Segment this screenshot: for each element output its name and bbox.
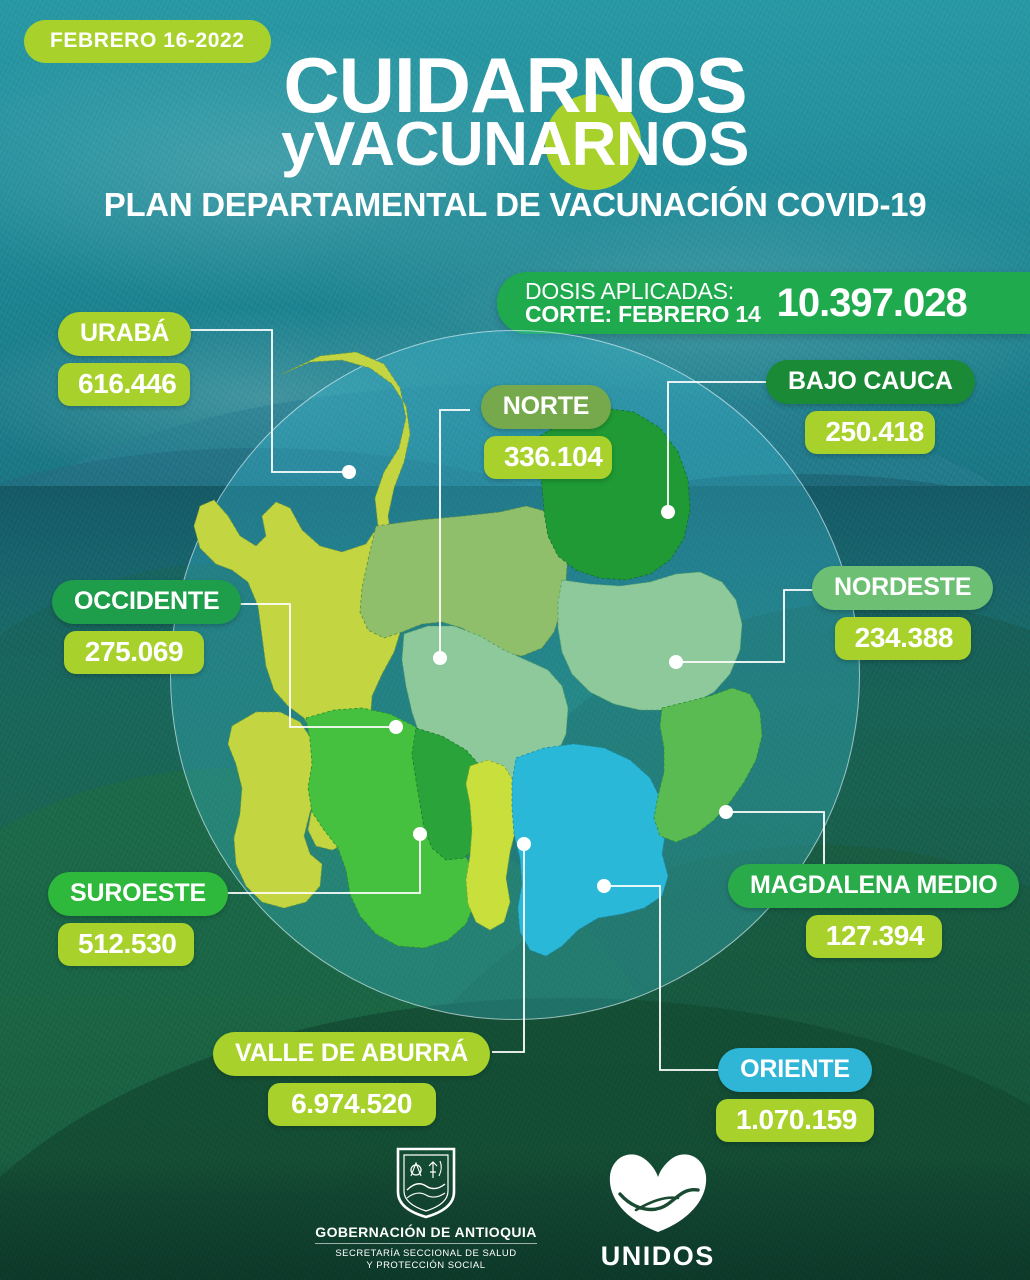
gobernacion-logo: GOBERNACIÓN DE ANTIOQUIA SECRETARÍA SECC… bbox=[315, 1146, 536, 1272]
region-value-uraba: 616.446 bbox=[58, 363, 190, 406]
gov-line-2: SECRETARÍA SECCIONAL DE SALUD bbox=[315, 1248, 536, 1260]
callout-suroeste: SUROESTE 512.530 bbox=[48, 872, 228, 966]
map-region-oriente[interactable] bbox=[512, 744, 668, 956]
region-value-magdalena-medio: 127.394 bbox=[806, 915, 942, 958]
title-y: y bbox=[281, 111, 314, 178]
doses-applied-banner: DOSIS APLICADAS: CORTE: FEBRERO 14 10.39… bbox=[497, 272, 1030, 334]
region-name-nordeste[interactable]: NORDESTE bbox=[812, 566, 993, 610]
callout-valle-de-aburra: VALLE DE ABURRÁ 6.974.520 bbox=[213, 1032, 490, 1126]
callout-oriente: ORIENTE 1.070.159 bbox=[716, 1048, 874, 1142]
map-region-magdalena-medio[interactable] bbox=[654, 688, 762, 842]
heart-icon bbox=[606, 1150, 710, 1234]
region-name-uraba[interactable]: URABÁ bbox=[58, 312, 191, 356]
footer: GOBERNACIÓN DE ANTIOQUIA SECRETARÍA SECC… bbox=[0, 1146, 1030, 1272]
region-value-occidente: 275.069 bbox=[64, 631, 204, 674]
page-subtitle: PLAN DEPARTAMENTAL DE VACUNACIÓN COVID-1… bbox=[0, 186, 1030, 224]
region-name-valle-de-aburra[interactable]: VALLE DE ABURRÁ bbox=[213, 1032, 490, 1076]
callout-bajo-cauca: BAJO CAUCA 250.418 bbox=[766, 360, 975, 454]
doses-label: DOSIS APLICADAS: CORTE: FEBRERO 14 bbox=[525, 280, 761, 327]
region-value-norte: 336.104 bbox=[484, 436, 612, 479]
region-name-norte[interactable]: NORTE bbox=[481, 385, 612, 429]
map-region-nordeste[interactable] bbox=[558, 572, 742, 710]
title-block: CUIDARNOS yVACUNARNOS bbox=[0, 50, 1030, 175]
region-value-valle-de-aburra: 6.974.520 bbox=[268, 1083, 436, 1126]
doses-label-line2: CORTE: FEBRERO 14 bbox=[525, 303, 761, 326]
callout-uraba: URABÁ 616.446 bbox=[58, 312, 191, 406]
region-name-oriente[interactable]: ORIENTE bbox=[718, 1048, 872, 1092]
callout-nordeste: NORDESTE 234.388 bbox=[812, 566, 993, 660]
coat-of-arms-icon bbox=[393, 1146, 459, 1220]
unidos-logo: UNIDOS bbox=[601, 1150, 715, 1272]
title-line-2-row: yVACUNARNOS bbox=[0, 116, 1030, 175]
title-line-2: VACUNARNOS bbox=[314, 110, 749, 179]
region-name-bajo-cauca[interactable]: BAJO CAUCA bbox=[766, 360, 975, 404]
gov-line-3: Y PROTECCIÓN SOCIAL bbox=[315, 1260, 536, 1272]
callout-magdalena-medio: MAGDALENA MEDIO 127.394 bbox=[728, 864, 1019, 958]
region-name-suroeste[interactable]: SUROESTE bbox=[48, 872, 228, 916]
region-name-magdalena-medio[interactable]: MAGDALENA MEDIO bbox=[728, 864, 1019, 908]
callout-occidente: OCCIDENTE 275.069 bbox=[52, 580, 241, 674]
subtitle-light: PLAN DEPARTAMENTAL DE bbox=[104, 186, 550, 223]
unidos-label: UNIDOS bbox=[601, 1241, 715, 1272]
subtitle-heavy: VACUNACIÓN COVID-19 bbox=[549, 186, 926, 223]
region-value-nordeste: 234.388 bbox=[835, 617, 971, 660]
region-value-bajo-cauca: 250.418 bbox=[805, 411, 935, 454]
doses-label-line1: DOSIS APLICADAS: bbox=[525, 280, 761, 303]
region-value-oriente: 1.070.159 bbox=[716, 1099, 874, 1142]
map-region-occidente[interactable] bbox=[228, 712, 322, 908]
callout-norte: NORTE 336.104 bbox=[480, 385, 612, 479]
doses-total-value: 10.397.028 bbox=[777, 281, 967, 326]
region-name-occidente[interactable]: OCCIDENTE bbox=[52, 580, 241, 624]
region-value-suroeste: 512.530 bbox=[58, 923, 194, 966]
map-region-valle-de-aburra[interactable] bbox=[466, 760, 518, 930]
gov-line-1: GOBERNACIÓN DE ANTIOQUIA bbox=[315, 1224, 536, 1244]
